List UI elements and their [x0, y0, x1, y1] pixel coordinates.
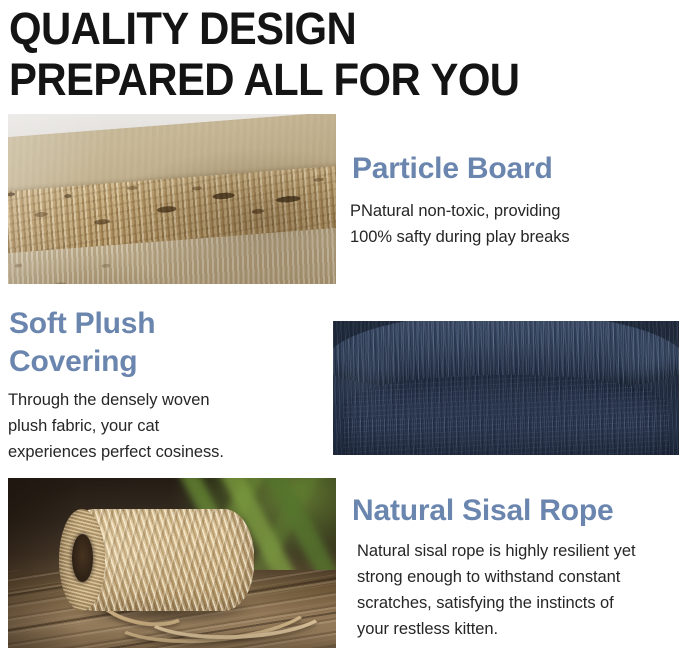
body-line: your restless kitten.: [357, 616, 675, 642]
section-body-particle-board: PNatural non-toxic, providing 100% safty…: [350, 198, 650, 250]
body-line: strong enough to withstand constant: [357, 564, 675, 590]
body-line: Natural sisal rope is highly resilient y…: [357, 538, 675, 564]
body-line: experiences perfect cosiness.: [8, 439, 308, 465]
sisal-shading: [8, 478, 336, 648]
section-heading-natural-sisal-rope: Natural Sisal Rope: [352, 492, 672, 530]
particle-board-image: [8, 114, 336, 284]
sisal-rope-image: [8, 478, 336, 648]
body-line: Through the densely woven: [8, 387, 308, 413]
body-line: scratches, satisfying the instincts of: [357, 590, 675, 616]
section-heading-particle-board: Particle Board: [352, 150, 672, 188]
section-body-soft-plush-covering: Through the densely woven plush fabric, …: [8, 387, 308, 465]
section-heading-soft-plush-covering: Soft Plush Covering: [9, 305, 329, 381]
page-title-line-1: QUALITY DESIGN: [9, 0, 627, 54]
body-line: 100% safty during play breaks: [350, 224, 650, 250]
body-line: PNatural non-toxic, providing: [350, 198, 650, 224]
page-title: QUALITY DESIGN PREPARED ALL FOR YOU: [9, 0, 674, 105]
plush-shading: [333, 321, 679, 455]
plush-covering-image: [333, 321, 679, 455]
section-body-natural-sisal-rope: Natural sisal rope is highly resilient y…: [357, 538, 675, 642]
particle-board-shading: [8, 114, 336, 284]
heading-line: Soft Plush: [9, 305, 329, 343]
page-title-line-2: PREPARED ALL FOR YOU: [9, 54, 627, 105]
heading-line: Covering: [9, 343, 329, 381]
body-line: plush fabric, your cat: [8, 413, 308, 439]
